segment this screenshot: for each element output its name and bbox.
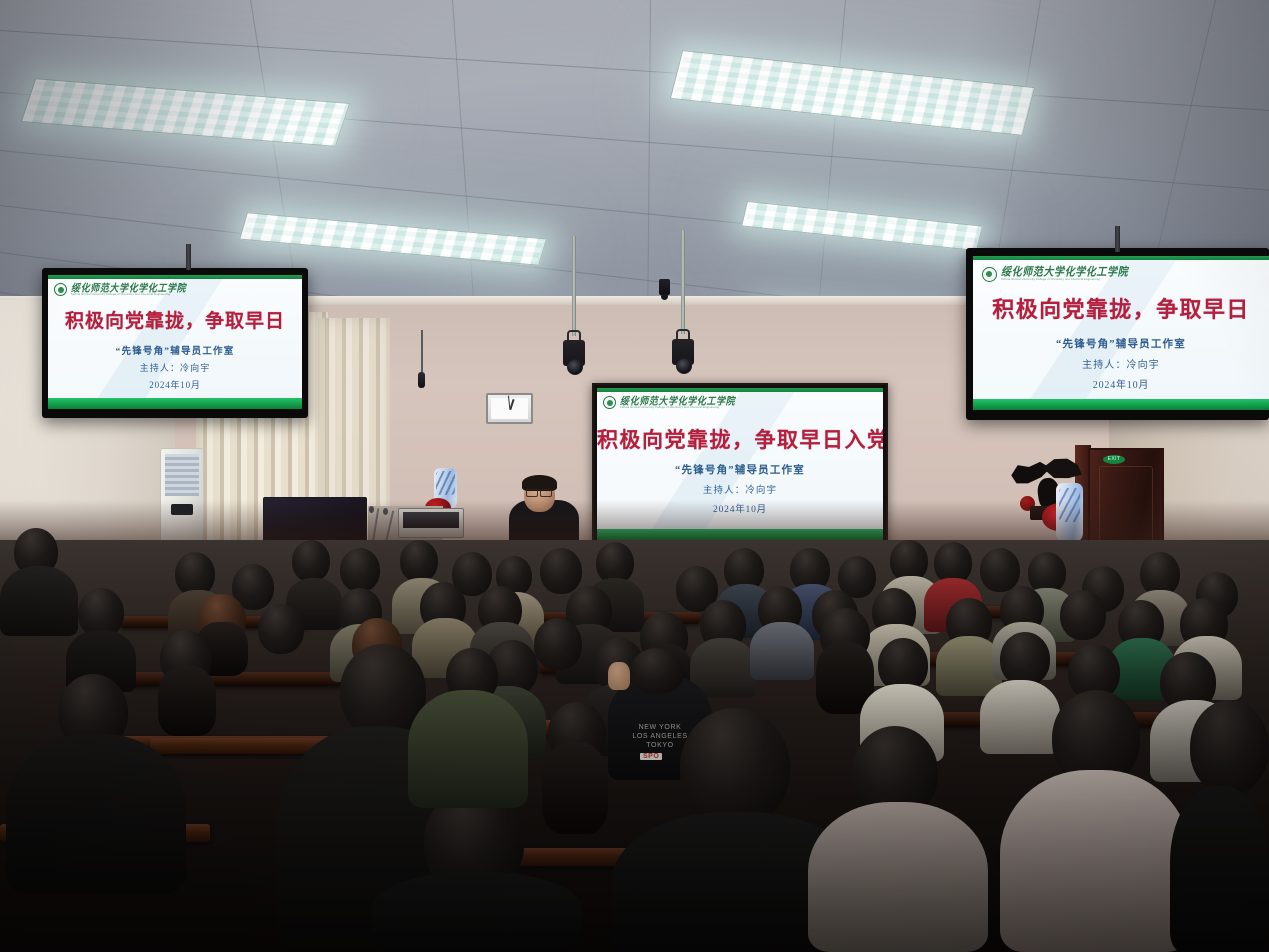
ceiling-camera [659,279,670,295]
audience-head [680,708,790,826]
slide-subtitle-studio: “先锋号角”辅导员工作室 [973,336,1269,351]
slide-subtitle-studio: “先锋号角”辅导员工作室 [597,462,883,477]
audience-hand-raised [608,662,630,690]
university-logo-icon [982,267,997,282]
audience-head [258,604,304,654]
audience-body [750,622,814,680]
logo-text-cn: 绥化师范大学化学化工学院 [71,283,186,293]
slide-logo-center: 绥化师范大学化学化工学院 Suihua Normal University Co… [603,396,735,409]
slide-title-left: 积极向党靠拢，争取早日 [48,306,302,333]
slide-left: 绥化师范大学化学化工学院 Suihua Normal University Co… [48,275,302,409]
audience-head [1060,590,1106,640]
audience-body [808,802,988,952]
audience-body [0,566,78,636]
slide-subtitle-date: 2024年10月 [48,378,302,391]
spotlight-head-right [672,339,694,365]
university-logo-icon [603,396,616,409]
audience-head [540,548,582,594]
logo-text-cn: 绥化师范大学化学化工学院 [620,396,735,406]
clock-face [491,398,528,419]
spotlight-pole-left [572,236,576,336]
slide-subtitle-host: 主持人：冷向宇 [48,361,302,374]
audience-head [400,540,438,582]
slide-logo-right: 绥化师范大学化学化工学院 Suihua Normal University Co… [982,267,1128,282]
spotlight-pole-right [681,230,685,334]
audience-head [1000,632,1050,686]
wall-tv-left[interactable]: 绥化师范大学化学化工学院 Suihua Normal University Co… [42,268,308,418]
slide-title-right: 积极向党靠拢，争取早日 [973,292,1269,324]
wall-tv-right[interactable]: 绥化师范大学化学化工学院 Suihua Normal University Co… [966,248,1269,420]
slide-subtitle-host: 主持人：冷向宇 [973,356,1269,371]
tv-left-panel: 绥化师范大学化学化工学院 Suihua Normal University Co… [48,275,302,409]
hanging-mic [418,372,425,388]
audience-hair-long [542,742,608,834]
audience-body [980,680,1060,754]
slide-logo-left: 绥化师范大学化学化工学院 Suihua Normal University Co… [54,283,186,296]
tv-left-mount [186,244,191,270]
slide-subtitle-host: 主持人：冷向宇 [597,482,883,496]
slide-bottom-accent-bar [48,398,302,409]
audience-head [340,548,380,592]
slide-top-accent-bar [973,256,1269,260]
audience-head [980,548,1020,592]
slide-top-accent-bar [597,388,883,392]
ac-vents [165,454,199,496]
lecture-hall-photo: 绥化师范大学化学化工学院 Suihua Normal University Co… [0,0,1269,952]
audience-head [630,648,684,694]
audience-body [372,872,582,952]
jacket-badge: SPO [640,753,662,760]
logo-text-cn: 绥化师范大学化学化工学院 [1001,267,1128,279]
audience-body [6,734,186,894]
tv-right-panel: 绥化师范大学化学化工学院 Suihua Normal University Co… [973,256,1269,410]
exit-sign: EXIT [1103,455,1125,464]
audience-head [292,540,330,582]
audience-hair-long [158,666,216,736]
presenter-glasses-icon [526,489,552,494]
hanging-mic-cable [421,330,423,374]
slide-subtitle-studio: “先锋号角”辅导员工作室 [48,343,302,357]
slide-bottom-accent-bar [973,399,1269,410]
slide-top-accent-bar [48,275,302,279]
audience-head [1190,700,1269,794]
audience-body [408,690,528,808]
university-logo-icon [54,283,67,296]
tv-right-mount [1115,226,1120,252]
slide-right: 绥化师范大学化学化工学院 Suihua Normal University Co… [973,256,1269,410]
audience-body [1170,786,1269,952]
audience-body [1000,770,1190,952]
audience-head [534,618,582,670]
wall-clock [486,393,533,424]
slide-subtitle-date: 2024年10月 [973,376,1269,391]
spotlight-head-left [563,340,585,366]
slide-title-center: 积极向党靠拢，争取早日入党 [597,424,883,454]
